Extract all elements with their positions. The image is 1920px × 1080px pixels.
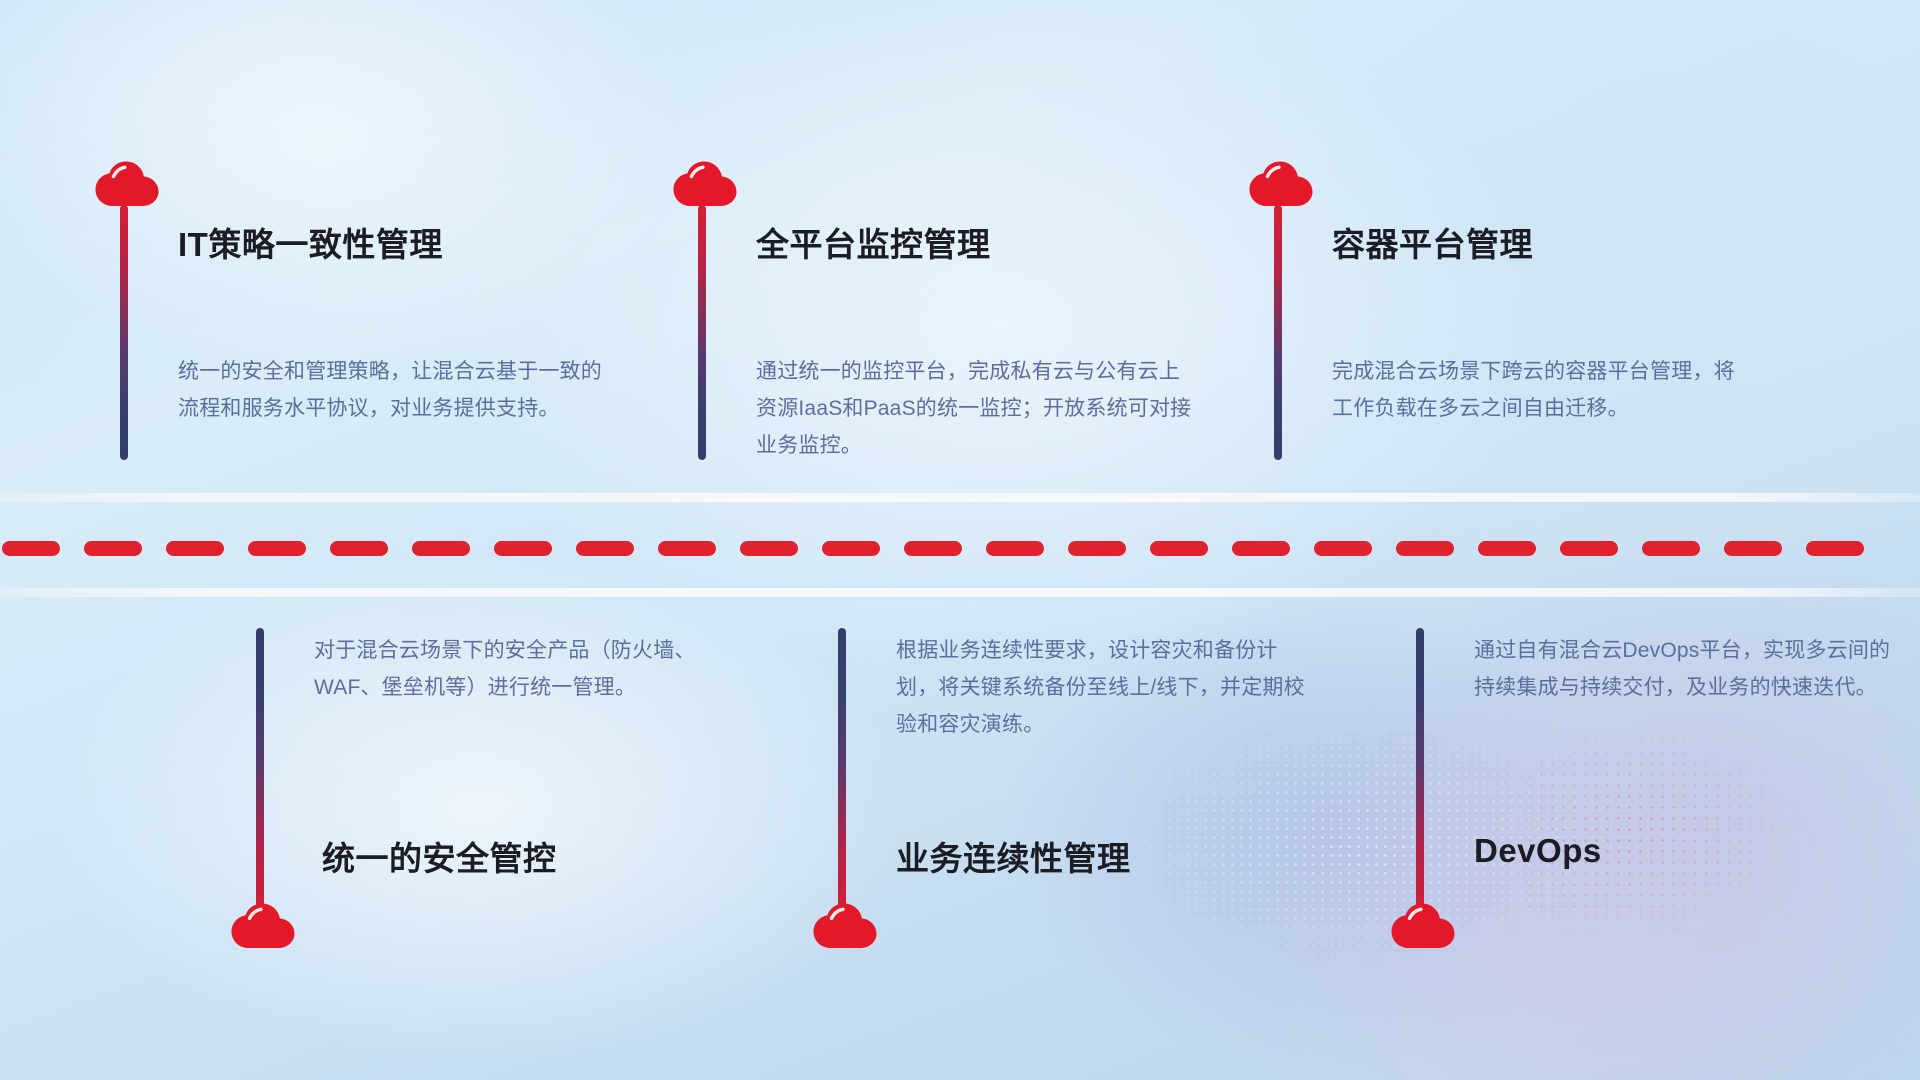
dash-segment [1396,541,1454,556]
dash-segment [1314,541,1372,556]
cloud-icon [672,160,738,210]
feature-description: 统一的安全和管理策略，让混合云基于一致的流程和服务水平协议，对业务提供支持。 [178,353,608,427]
connector-line [838,628,846,918]
dash-segment [1806,541,1864,556]
dash-segment [986,541,1044,556]
divider-bar-top [0,493,1920,502]
connector-line [1274,205,1282,460]
connector-line [120,205,128,460]
dash-segment [84,541,142,556]
dash-segment [2,541,60,556]
feature-description: 完成混合云场景下跨云的容器平台管理，将工作负载在多云之间自由迁移。 [1332,353,1752,427]
dash-segment [658,541,716,556]
dash-segment [412,541,470,556]
dash-segment [166,541,224,556]
feature-title: DevOps [1474,832,1602,870]
dash-segment [576,541,634,556]
cloud-icon [94,160,160,210]
divider-bar-bottom [0,588,1920,597]
feature-description: 对于混合云场景下的安全产品（防火墙、WAF、堡垒机等）进行统一管理。 [314,632,734,706]
feature-title: 统一的安全管控 [322,832,557,880]
dash-segment [1232,541,1290,556]
infographic-canvas: IT策略一致性管理 统一的安全和管理策略，让混合云基于一致的流程和服务水平协议，… [0,0,1920,1080]
dash-segment [822,541,880,556]
feature-title: 容器平台管理 [1332,218,1533,266]
dash-segment [1560,541,1618,556]
cloud-icon [1248,160,1314,210]
connector-line [1416,628,1424,918]
feature-description: 根据业务连续性要求，设计容灾和备份计划，将关键系统备份至线上/线下，并定期校验和… [896,632,1316,743]
dash-segment [248,541,306,556]
dash-segment [494,541,552,556]
cloud-icon [1390,902,1456,952]
cloud-icon [230,902,296,952]
connector-line [256,628,264,918]
dash-segment [1642,541,1700,556]
feature-title: 全平台监控管理 [756,218,991,266]
feature-description: 通过统一的监控平台，完成私有云与公有云上资源IaaS和PaaS的统一监控；开放系… [756,353,1196,464]
dashed-divider [0,541,1920,556]
dash-segment [1478,541,1536,556]
dash-segment [1150,541,1208,556]
feature-title: 业务连续性管理 [896,832,1131,880]
dash-segment [904,541,962,556]
dash-segment [1724,541,1782,556]
feature-title: IT策略一致性管理 [178,218,443,266]
dash-segment [330,541,388,556]
dash-segment [1068,541,1126,556]
dash-segment [740,541,798,556]
feature-description: 通过自有混合云DevOps平台，实现多云间的持续集成与持续交付，及业务的快速迭代… [1474,632,1894,706]
cloud-icon [812,902,878,952]
connector-line [698,205,706,460]
